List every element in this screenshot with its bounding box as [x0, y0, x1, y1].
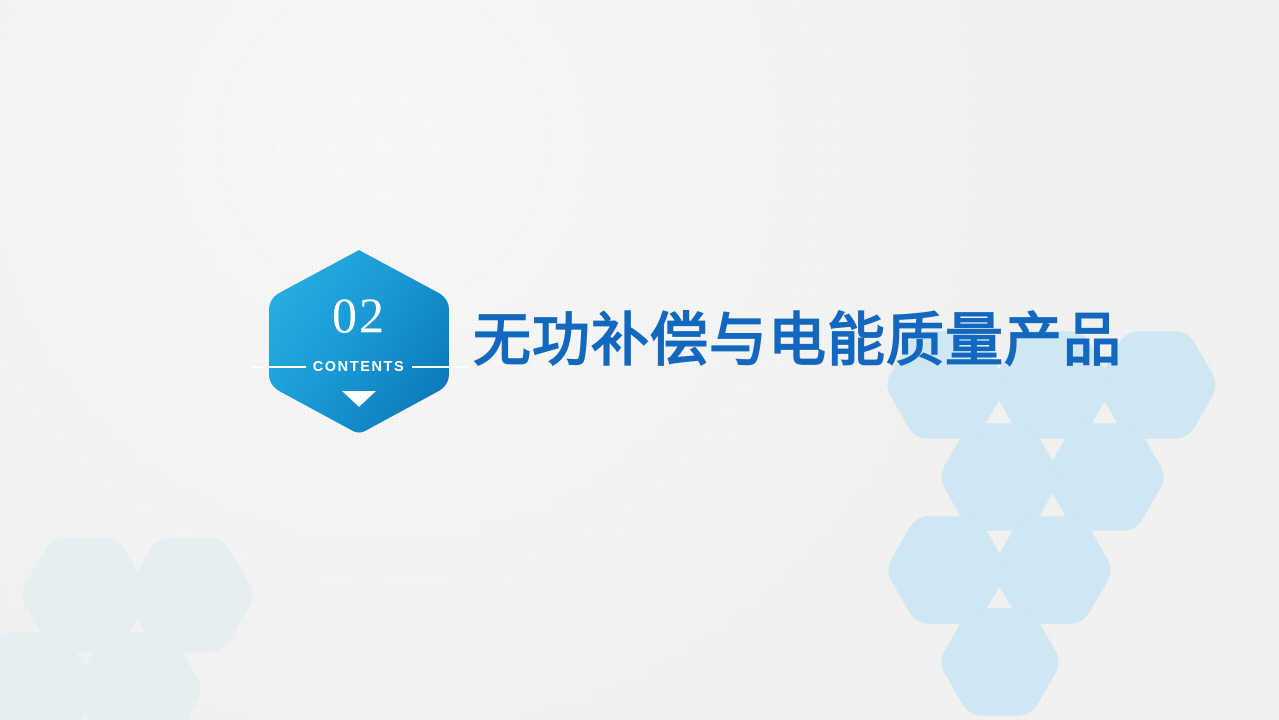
honeycomb-hexagon: [1046, 423, 1163, 530]
honeycomb-hexagon: [993, 516, 1110, 623]
honeycomb-hexagon: [128, 538, 253, 652]
section-number: 02: [267, 290, 451, 340]
honeycomb-hexagon: [0, 633, 94, 720]
honeycomb-hexagon: [23, 538, 148, 652]
slide-canvas: 02 CONTENTS 无功补偿与电能质量产品: [0, 0, 1279, 720]
rule-right: [412, 366, 467, 368]
honeycomb-hexagon: [941, 608, 1058, 715]
section-number-badge: 02 CONTENTS: [267, 248, 451, 434]
rule-left: [251, 366, 306, 368]
section-header-group: 02 CONTENTS 无功补偿与电能质量产品: [267, 248, 1122, 434]
honeycomb-hexagon: [888, 516, 1005, 623]
contents-rule-row: CONTENTS: [251, 360, 467, 375]
triangle-down-icon: [342, 391, 376, 407]
honeycomb-hexagon: [76, 633, 201, 720]
page-title: 无功补偿与电能质量产品: [473, 312, 1122, 370]
badge-content: 02 CONTENTS: [267, 248, 451, 434]
honeycomb-hexagon: [941, 423, 1058, 530]
contents-label: CONTENTS: [310, 360, 409, 375]
